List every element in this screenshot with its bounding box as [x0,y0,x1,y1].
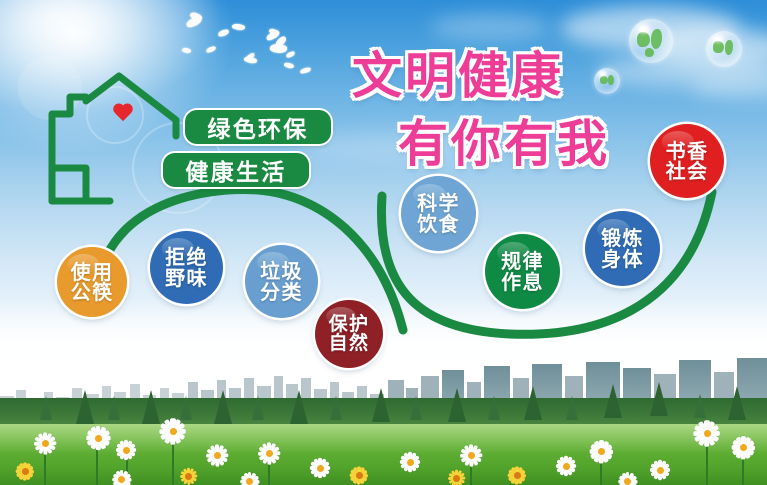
globe-bubble-icon [706,31,742,67]
lawn-highlight [0,424,767,454]
bubble-line2: 自然 [329,334,370,353]
bubble-use-serving-chopsticks[interactable]: 使用 公筷 [57,247,127,317]
flower-stem [268,450,270,485]
flower-stem [44,440,46,485]
bubble-line1: 规律 [501,251,544,271]
flower-stem [742,444,744,485]
heart-icon [112,104,134,124]
bubble-regular-routine[interactable]: 规律 作息 [485,234,560,309]
bubble-line2: 野味 [165,268,208,288]
bubble-line1: 书香 [666,141,709,161]
badge-healthy-life[interactable]: 健康生活 [163,153,309,187]
bubble-line1: 科学 [417,193,460,213]
bubble-scientific-diet[interactable]: 科学 饮食 [401,176,476,251]
bubble-line2: 公筷 [71,282,114,302]
flower-stem [470,452,472,485]
flower-stem [96,434,98,485]
bubble-line2: 饮食 [417,214,460,234]
flower-stem [172,428,174,485]
flower-stem [706,430,708,485]
bubble-line2: 分类 [260,282,303,302]
bubble-reading-society[interactable]: 书香 社会 [650,124,724,198]
bubble-line1: 使用 [71,262,114,282]
page-title-line2: 有你有我 [398,104,610,176]
bubble-refuse-wild-game[interactable]: 拒绝 野味 [150,231,223,304]
bubble-line2: 身体 [601,249,644,269]
flower-stem [600,448,602,485]
page-title-line1: 文明健康 [352,36,564,108]
bubble-line2: 作息 [501,272,544,292]
badge-green-environment[interactable]: 绿色环保 [185,110,331,144]
flower-stem [126,448,128,485]
bubble-line1: 锻炼 [601,228,644,248]
bubble-line1: 拒绝 [165,247,208,267]
globe-bubble-icon [629,19,673,63]
bubble-protect-nature[interactable]: 保护 自然 [315,300,383,368]
bubble-exercise-body[interactable]: 锻炼 身体 [585,211,660,286]
bubble-line1: 垃圾 [260,261,303,281]
bubble-line2: 社会 [666,161,709,181]
globe-bubble-icon [594,68,620,94]
poster-canvas: 文明健康 有你有我 绿色环保 健康生活 使用 公筷 拒绝 野味 垃圾 分类 保护… [0,0,767,485]
bubble-waste-sorting[interactable]: 垃圾 分类 [245,245,318,318]
